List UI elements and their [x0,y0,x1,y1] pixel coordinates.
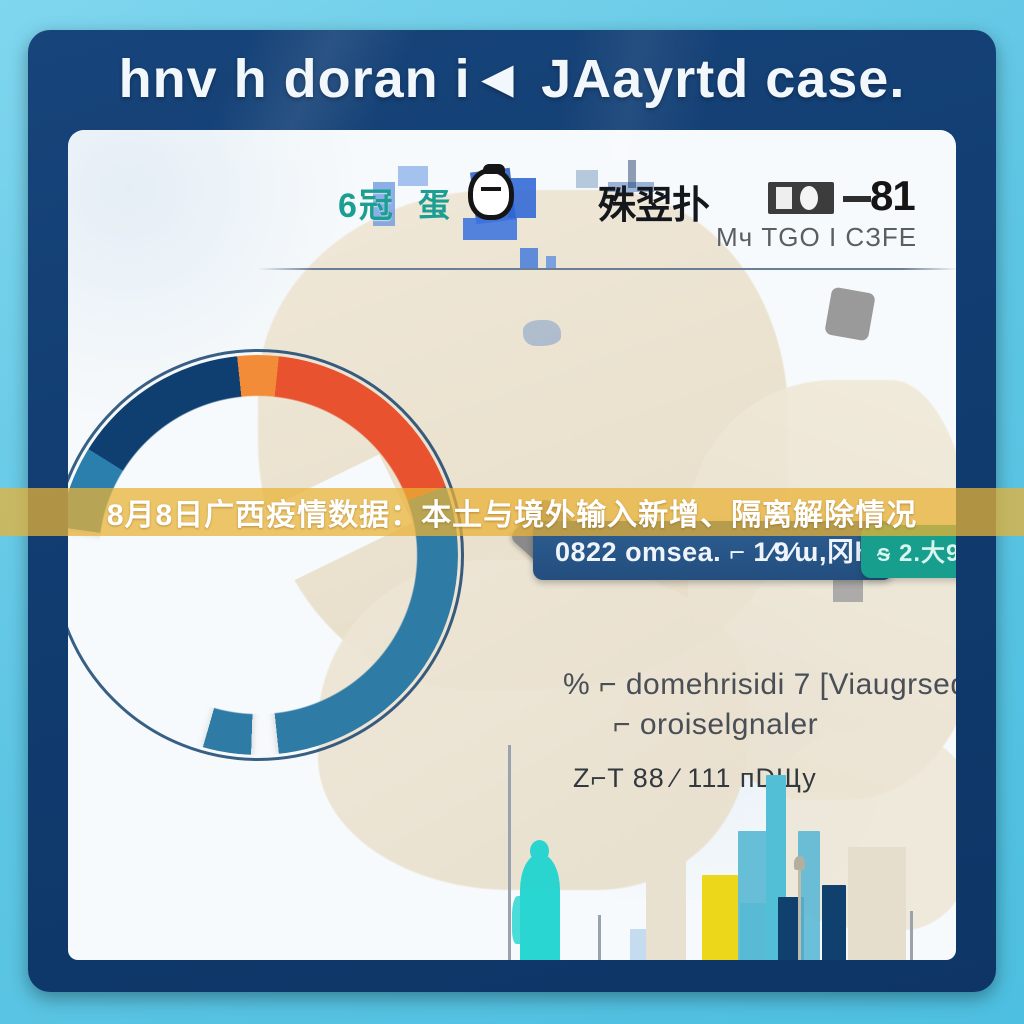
bar-chart: Z⌐T 88 ⁄ 111 пDЩy [478,725,956,960]
antenna-icon [798,866,801,960]
bar-item [822,885,846,960]
legend-teal-code: 6冠 [338,178,395,227]
map-lake-shape [523,320,561,346]
axis-tick [910,911,913,960]
bar-item [646,859,686,960]
bar-badge-icon [768,182,834,214]
statue-silhouette-icon [520,854,560,960]
legend-row: 6冠 蛋 殊翌扑 81 Mч TGO I CЗFЕ [68,160,956,260]
content-panel: 6冠 蛋 殊翌扑 81 Mч TGO I CЗFЕ 0822 omsea. ⌐ … [68,130,956,960]
axis-tick [598,915,601,960]
legend-divider [258,268,956,270]
description-line-2: ⌐ orоiselgnaler [613,708,818,742]
bar-item [798,831,820,960]
overlay-banner: 8月8日广西疫情数据：本土与境外输入新增、隔离解除情况 [0,488,1024,536]
legend-subtext: Mч TGO I CЗFЕ [716,222,917,253]
face-outline-icon [468,168,514,220]
overlay-banner-text: 8月8日广西疫情数据：本土与境外输入新增、隔离解除情况 [0,490,1024,534]
bar-item [702,875,738,960]
axis-tick [508,745,511,960]
screenshot-root: hnv h doran i◄ JAayrtd case. [0,0,1024,1024]
legend-dark-cjk: 殊翌扑 [598,174,709,229]
legend-teal-glyph: 蛋 [418,180,450,226]
dash-icon [843,196,871,202]
grey-diamond-icon-2 [824,287,876,342]
bar-chart-bars [478,745,956,960]
legend-number: 81 [870,172,915,220]
description-line-1: % ⌐ domehrisidi 7 [Viaugrsed carl [563,668,956,702]
bar-item [848,847,906,960]
page-title: hnv h doran i◄ JAayrtd case. [28,48,996,110]
